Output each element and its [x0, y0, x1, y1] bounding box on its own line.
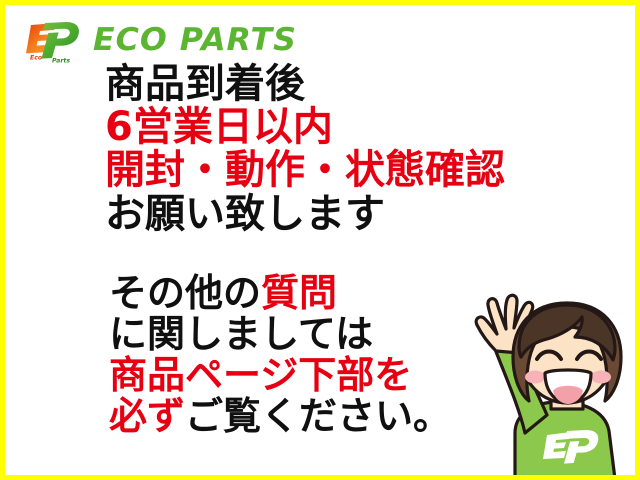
notice-line-8-highlight: 必ず	[109, 394, 185, 438]
notice-line-3: 開封・動作・状態確認	[105, 149, 505, 192]
notice-line-5-part-a: その他の	[109, 271, 261, 315]
notice-line-8-part-b: ご覧ください。	[185, 394, 451, 438]
svg-text:Eco: Eco	[30, 55, 43, 62]
notice-banner: Eco Parts ECO PARTS 商品到着後 6営業日以内 開封・動作・状…	[0, 0, 640, 480]
notice-line-5-highlight: 質問	[261, 271, 337, 315]
notice-line-4: お願い致します	[105, 193, 505, 236]
notice-line-6: に関しましては	[109, 314, 451, 355]
eco-parts-ep-logo-icon: Eco Parts	[21, 17, 83, 63]
svg-text:Parts: Parts	[52, 57, 70, 63]
notice-line-8: 必ずご覧ください。	[109, 396, 451, 437]
notice-line-1: 商品到着後	[105, 63, 505, 106]
notice-block-delivery: 商品到着後 6営業日以内 開封・動作・状態確認 お願い致します	[105, 63, 505, 236]
notice-block-questions: その他の質問 に関しましては 商品ページ下部を 必ずご覧ください。	[109, 273, 451, 437]
brand-wordmark: ECO PARTS	[93, 25, 297, 56]
notice-line-2: 6営業日以内	[105, 106, 505, 149]
waving-staff-character-icon	[455, 283, 639, 479]
notice-line-5: その他の質問	[109, 273, 451, 314]
brand-header: Eco Parts ECO PARTS	[21, 16, 293, 64]
notice-line-7: 商品ページ下部を	[109, 355, 451, 396]
